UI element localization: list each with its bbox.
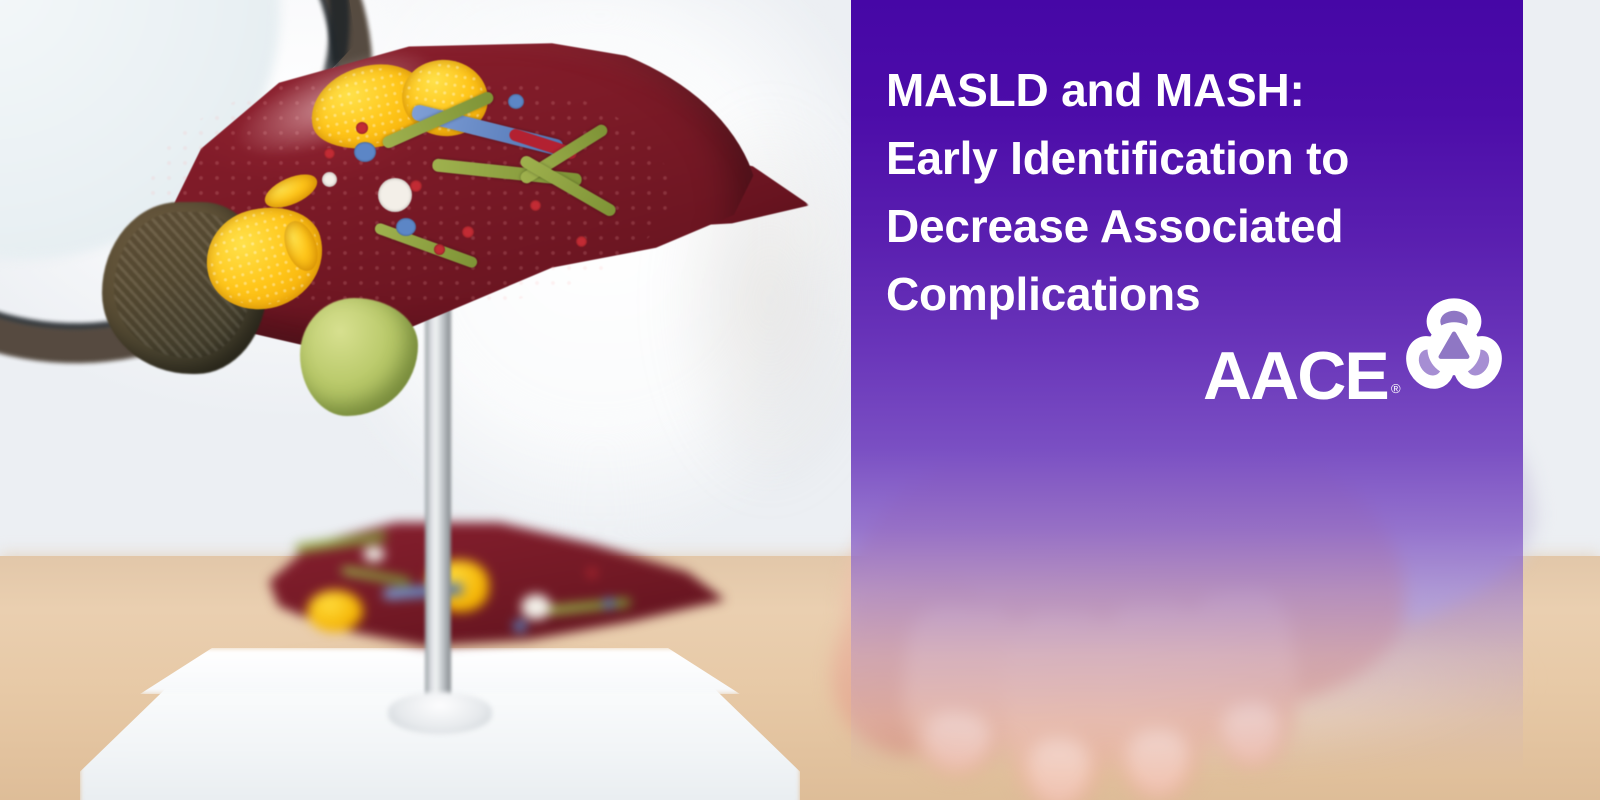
registered-trademark-icon: ® xyxy=(1391,382,1401,395)
vessel-dot-red xyxy=(324,148,335,159)
bile-duct-marker xyxy=(322,172,337,187)
vessel-dot-red xyxy=(356,122,368,134)
vessel-dot-blue xyxy=(513,620,527,632)
title-line-2: Early Identification to xyxy=(886,124,1486,192)
page-title: MASLD and MASH: Early Identification to … xyxy=(886,56,1486,328)
title-line-3: Decrease Associated xyxy=(886,192,1486,260)
bile-duct-marker xyxy=(363,546,385,562)
aace-wordmark: AACE xyxy=(1203,342,1388,410)
liver-model-lower xyxy=(255,510,725,680)
liver-lower-fat-deposit xyxy=(307,590,363,632)
aace-trefoil-logo-icon xyxy=(1401,294,1507,400)
banner: MASLD and MASH: Early Identification to … xyxy=(0,0,1600,800)
vessel-dot-blue xyxy=(354,142,376,162)
vessel-dot-red xyxy=(462,226,474,238)
vessel-dot-red xyxy=(587,568,597,578)
vessel-dot-blue xyxy=(396,218,416,236)
bile-duct-marker xyxy=(378,178,412,212)
title-line-1: MASLD and MASH: xyxy=(886,56,1486,124)
liver-model-upper xyxy=(110,30,760,390)
aace-logo-lockup: AACE ® xyxy=(1191,290,1501,420)
display-stand-collar xyxy=(388,692,492,734)
vessel-dot-blue xyxy=(603,598,615,609)
vessel-dot-red xyxy=(410,180,422,192)
vessel-dot-red xyxy=(530,200,541,211)
bile-duct-marker xyxy=(521,594,551,620)
vessel-dot-red xyxy=(576,236,587,247)
liver-lower-body xyxy=(255,510,725,665)
vessel-dot-red xyxy=(434,244,445,255)
vessel-dot-blue xyxy=(508,94,524,109)
purple-gradient-panel: MASLD and MASH: Early Identification to … xyxy=(851,0,1523,800)
